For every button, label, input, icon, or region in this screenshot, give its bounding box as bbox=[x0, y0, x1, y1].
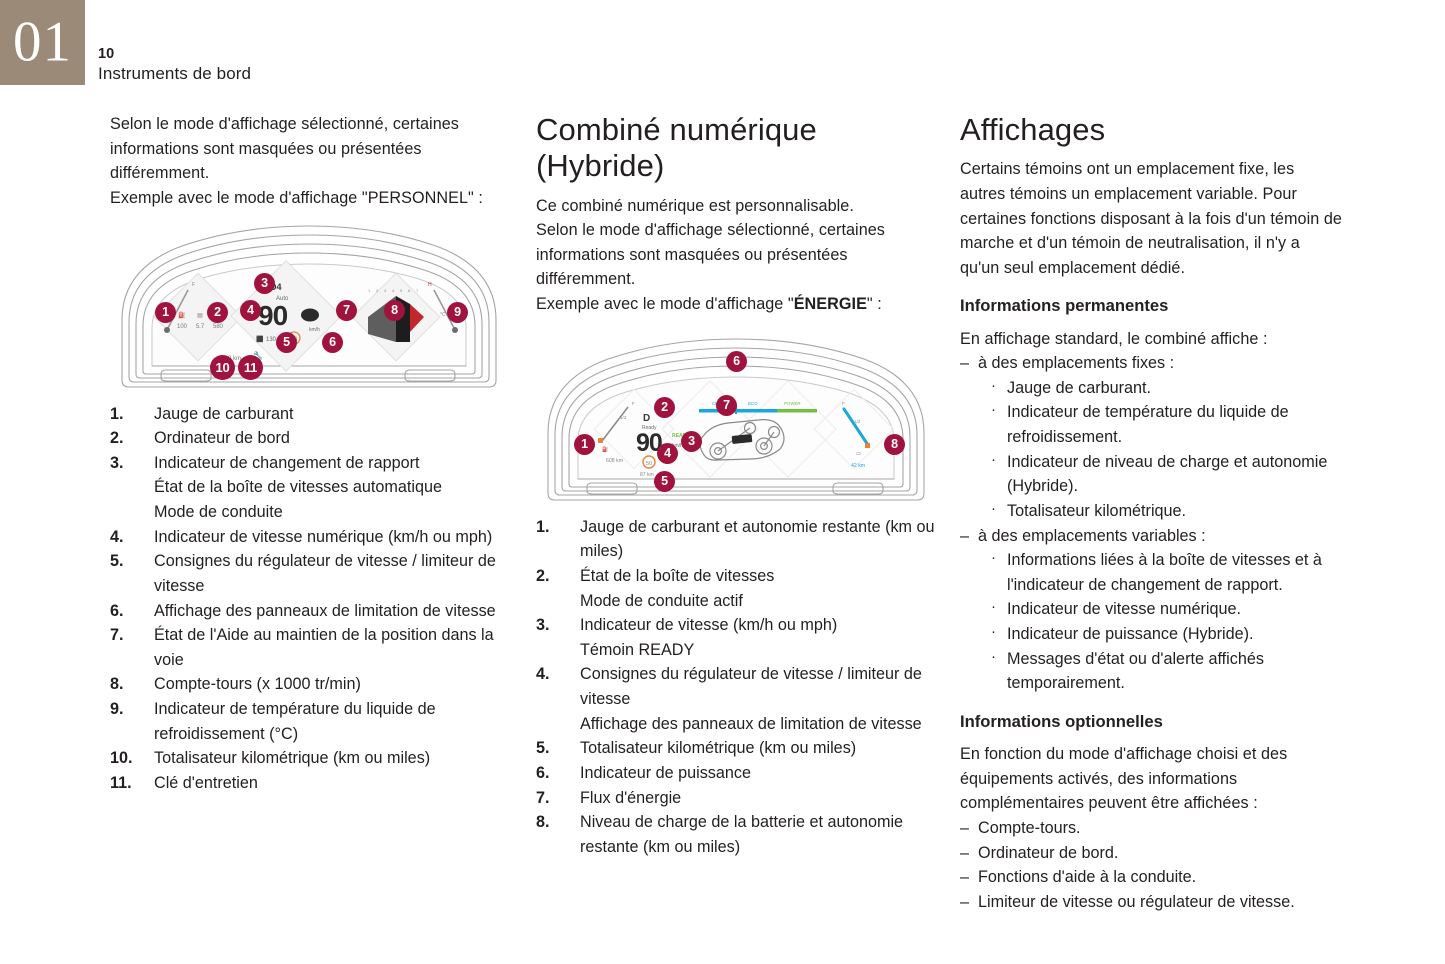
figure-instrument-cluster-hybride: CHARGE ECO POWER F 1/2 ⛽ 608 km D Ready … bbox=[536, 335, 936, 505]
dot-item: ·Indicateur de température du liquide de… bbox=[990, 400, 1342, 449]
figure1-badge-7: 7 bbox=[336, 300, 357, 321]
column1-intro: Selon le mode d'affichage sélectionné, c… bbox=[110, 112, 508, 186]
figure1-badge-2: 2 bbox=[207, 302, 228, 323]
dot-item: ·Indicateur de niveau de charge et auton… bbox=[990, 450, 1342, 499]
column2-heading: Combiné numérique (Hybride) bbox=[536, 112, 936, 185]
list-item: 1.Jauge de carburant bbox=[110, 402, 508, 427]
svg-text:H: H bbox=[428, 282, 432, 288]
dot-marker: · bbox=[991, 449, 996, 472]
svg-text:▤: ▤ bbox=[197, 313, 203, 319]
list-item: 2.Ordinateur de bord bbox=[110, 426, 508, 451]
svg-text:1/2: 1/2 bbox=[620, 415, 627, 420]
permanent-info-lead: En affichage standard, le combiné affich… bbox=[960, 327, 1342, 352]
figure2-badge-2: 2 bbox=[654, 397, 675, 418]
list-item: 6.Affichage des panneaux de limitation d… bbox=[110, 599, 508, 624]
list-item: 4.Consignes du régulateur de vitesse / l… bbox=[536, 662, 936, 736]
svg-text:F: F bbox=[632, 401, 635, 406]
figure2-badge-6: 6 bbox=[726, 351, 747, 372]
example-suffix: " : bbox=[867, 295, 882, 313]
dash-marker: – bbox=[960, 865, 969, 890]
dot-marker: · bbox=[991, 399, 996, 422]
figure2-badge-4: 4 bbox=[657, 443, 678, 464]
svg-text:5.7: 5.7 bbox=[196, 324, 205, 330]
svg-text:608 km: 608 km bbox=[606, 458, 623, 464]
dot-item: ·Messages d'état ou d'alerte affichés te… bbox=[990, 647, 1342, 696]
list-item: 9.Indicateur de température du liquide d… bbox=[110, 697, 508, 746]
optional-info-list: –Compte-tours. –Ordinateur de bord. –Fon… bbox=[960, 816, 1342, 915]
dot-marker: · bbox=[991, 646, 996, 669]
svg-text:F: F bbox=[842, 401, 845, 406]
figure2-badge-3: 3 bbox=[681, 431, 702, 452]
page-number: 10 bbox=[98, 45, 251, 63]
section-title: Instruments de bord bbox=[98, 63, 251, 85]
dash-marker: – bbox=[960, 841, 969, 866]
column1-example-line: Exemple avec le mode d'affichage "PERSON… bbox=[110, 186, 508, 211]
dash-item: –Ordinateur de bord. bbox=[960, 841, 1342, 866]
svg-text:1/2: 1/2 bbox=[854, 419, 861, 424]
list-item: 3.Indicateur de changement de rapportÉta… bbox=[110, 451, 508, 525]
dash-item: –Compte-tours. bbox=[960, 816, 1342, 841]
optional-info-lead: En fonction du mode d'affichage choisi e… bbox=[960, 742, 1342, 816]
column1-item-list: 1.Jauge de carburant 2.Ordinateur de bor… bbox=[110, 402, 508, 796]
list-item: 8.Compte-tours (x 1000 tr/min) bbox=[110, 672, 508, 697]
svg-text:F: F bbox=[192, 282, 195, 288]
dot-item: ·Jauge de carburant. bbox=[990, 376, 1342, 401]
permanent-variable-group: –à des emplacements variables : bbox=[960, 524, 1342, 549]
list-item: 4.Indicateur de vitesse numérique (km/h … bbox=[110, 525, 508, 550]
svg-text:POWER: POWER bbox=[784, 401, 801, 406]
figure1-badge-1: 1 bbox=[155, 302, 176, 323]
column-3: Affichages Certains témoins ont un empla… bbox=[960, 112, 1342, 915]
figure2-badge-7: 7 bbox=[716, 395, 737, 416]
svg-text:ECO: ECO bbox=[748, 401, 758, 406]
permanent-variable-dots: ·Informations liées à la boîte de vitess… bbox=[990, 548, 1342, 696]
column2-intro-2: Selon le mode d'affichage sélectionné, c… bbox=[536, 218, 936, 292]
dash-marker: – bbox=[960, 890, 969, 915]
dot-marker: · bbox=[991, 498, 996, 521]
dot-marker: · bbox=[991, 375, 996, 398]
list-item: 11.Clé d'entretien bbox=[110, 771, 508, 796]
dot-item: ·Informations liées à la boîte de vitess… bbox=[990, 548, 1342, 597]
dash-item: –à des emplacements variables : bbox=[960, 524, 1342, 549]
svg-text:580: 580 bbox=[213, 324, 224, 330]
figure2-badge-1: 1 bbox=[574, 434, 595, 455]
figure1-badge-8: 8 bbox=[384, 300, 405, 321]
content-columns: Selon le mode d'affichage sélectionné, c… bbox=[0, 112, 1445, 962]
column2-example-line: Exemple avec le mode d'affichage "ÉNERGI… bbox=[536, 292, 936, 317]
list-item: 1.Jauge de carburant et autonomie restan… bbox=[536, 515, 936, 564]
figure1-badge-6: 6 bbox=[322, 332, 343, 353]
dash-marker: – bbox=[960, 351, 969, 376]
svg-text:▭: ▭ bbox=[856, 451, 862, 457]
optional-info-heading: Informations optionnelles bbox=[960, 710, 1342, 733]
list-item: 5.Totalisateur kilométrique (km ou miles… bbox=[536, 736, 936, 761]
list-item: 3.Indicateur de vitesse (km/h ou mph)Tém… bbox=[536, 613, 936, 662]
permanent-fixed-group: –à des emplacements fixes : bbox=[960, 351, 1342, 376]
column3-heading: Affichages bbox=[960, 112, 1342, 148]
svg-text:⛽: ⛽ bbox=[602, 446, 608, 453]
column-1: Selon le mode d'affichage sélectionné, c… bbox=[110, 112, 508, 796]
list-item: 2.État de la boîte de vitessesMode de co… bbox=[536, 564, 936, 613]
figure2-badge-5: 5 bbox=[654, 471, 675, 492]
column2-intro-1: Ce combiné numérique est personnalisable… bbox=[536, 194, 936, 219]
dash-marker: – bbox=[960, 816, 969, 841]
dash-item: –Fonctions d'aide à la conduite. bbox=[960, 865, 1342, 890]
permanent-info-heading: Informations permanentes bbox=[960, 294, 1342, 317]
list-item: 10.Totalisateur kilométrique (km ou mile… bbox=[110, 746, 508, 771]
column-2: Combiné numérique (Hybride) Ce combiné n… bbox=[536, 112, 936, 859]
svg-text:⬛: ⬛ bbox=[256, 335, 264, 343]
figure1-badge-4: 4 bbox=[240, 300, 261, 321]
example-prefix: Exemple avec le mode d'affichage " bbox=[536, 295, 794, 313]
page-header: 01 10 Instruments de bord bbox=[0, 0, 1445, 92]
svg-text:°C: °C bbox=[440, 312, 446, 318]
dash-item: –Limiteur de vitesse ou régulateur de vi… bbox=[960, 890, 1342, 915]
list-item: 8.Niveau de charge de la batterie et aut… bbox=[536, 810, 936, 859]
svg-text:42 km: 42 km bbox=[851, 463, 865, 469]
figure1-badge-10: 10 bbox=[210, 355, 235, 380]
svg-text:87 km: 87 km bbox=[640, 472, 654, 478]
list-item: 7.État de l'Aide au maintien de la posit… bbox=[110, 623, 508, 672]
chapter-number: 01 bbox=[13, 13, 72, 70]
dash-item: –à des emplacements fixes : bbox=[960, 351, 1342, 376]
figure1-badge-11: 11 bbox=[238, 355, 263, 380]
list-item: 5.Consignes du régulateur de vitesse / l… bbox=[110, 549, 508, 598]
svg-text:⛽: ⛽ bbox=[178, 311, 186, 319]
figure1-badge-9: 9 bbox=[447, 302, 468, 323]
svg-text:50: 50 bbox=[646, 461, 652, 467]
dot-item: ·Indicateur de vitesse numérique. bbox=[990, 597, 1342, 622]
chapter-badge: 01 bbox=[0, 0, 85, 85]
figure1-badge-3: 3 bbox=[254, 273, 275, 294]
column3-intro: Certains témoins ont un emplacement fixe… bbox=[960, 157, 1342, 280]
dot-marker: · bbox=[991, 596, 996, 619]
figure-instrument-cluster-personnel: F ⛽ ▤ ⛽ 100 5.7 580 D4 Auto 90 km/h ⬛ bbox=[110, 224, 508, 392]
cluster-speed: 90 bbox=[258, 300, 288, 331]
svg-text:100: 100 bbox=[177, 324, 188, 330]
dash-marker: – bbox=[960, 524, 969, 549]
cluster-gear-hybride: D bbox=[643, 413, 650, 424]
column2-item-list: 1.Jauge de carburant et autonomie restan… bbox=[536, 515, 936, 860]
dot-item: ·Totalisateur kilométrique. bbox=[990, 499, 1342, 524]
header-text-block: 10 Instruments de bord bbox=[98, 45, 251, 85]
permanent-fixed-dots: ·Jauge de carburant. ·Indicateur de temp… bbox=[990, 376, 1342, 524]
list-item: 7.Flux d'énergie bbox=[536, 786, 936, 811]
dot-marker: · bbox=[991, 547, 996, 570]
dot-marker: · bbox=[991, 621, 996, 644]
dot-item: ·Indicateur de puissance (Hybride). bbox=[990, 622, 1342, 647]
list-item: 6.Indicateur de puissance bbox=[536, 761, 936, 786]
figure1-badge-5: 5 bbox=[276, 332, 297, 353]
cluster-speed-unit: km/h bbox=[309, 327, 320, 333]
example-mode: ÉNERGIE bbox=[794, 295, 867, 313]
figure2-badge-8: 8 bbox=[884, 434, 905, 455]
